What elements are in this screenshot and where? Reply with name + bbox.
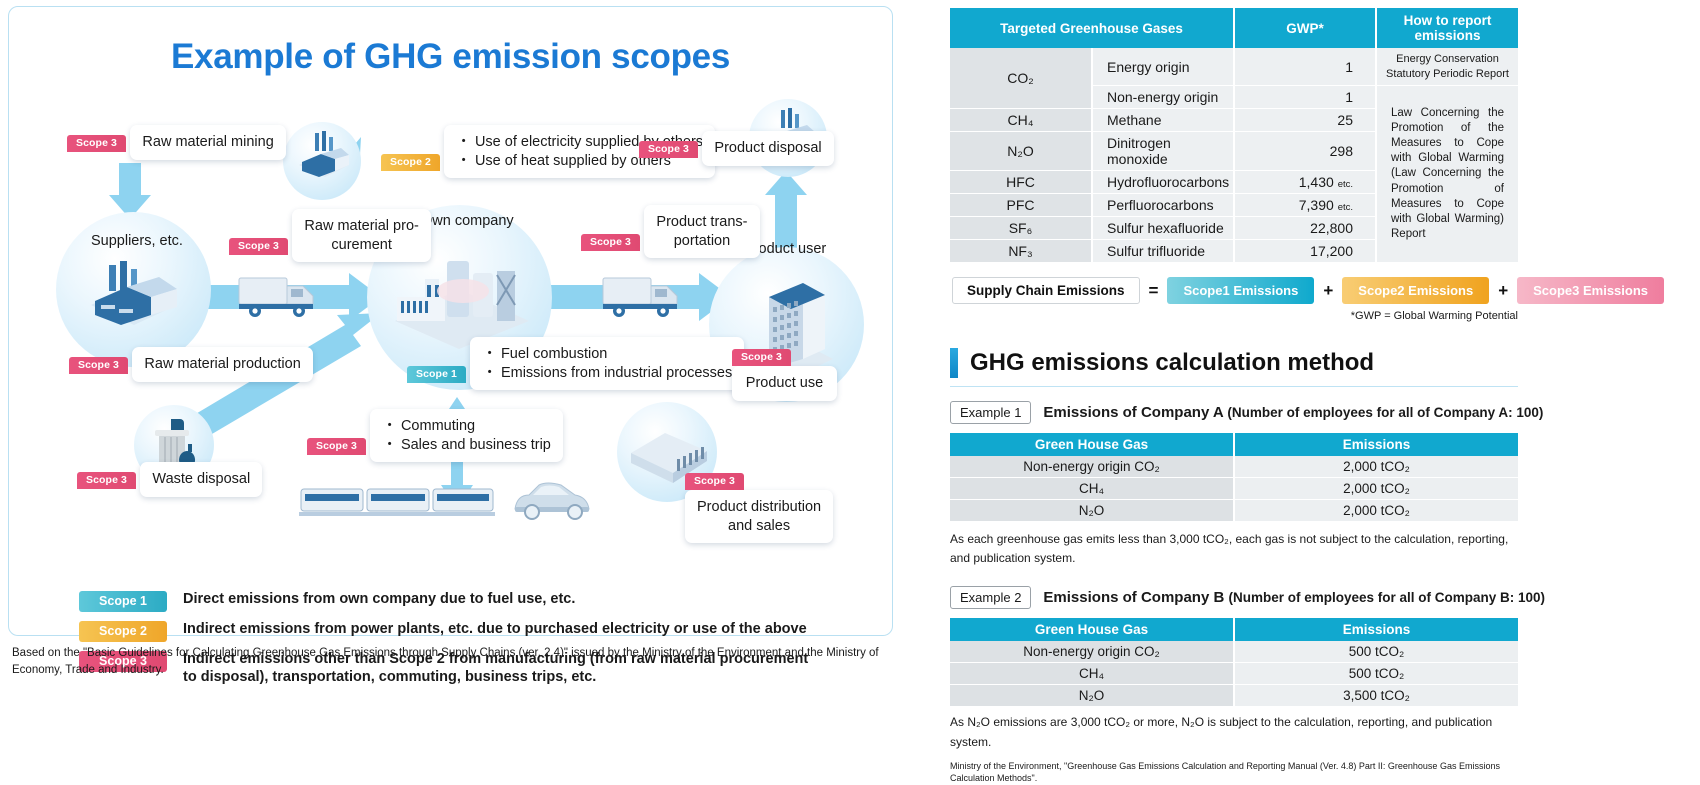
example1-note: As each greenhouse gas emits less than 3…	[950, 530, 1518, 568]
cell-name: Dinitrogen monoxide	[1092, 132, 1234, 171]
node-product-use: Scope 3 Product use	[732, 347, 892, 401]
source-note: Ministry of the Environment, "Greenhouse…	[950, 760, 1518, 785]
scope-tag: Scope 3	[307, 438, 366, 455]
node-waste-disposal: Scope 3 Waste disposal	[77, 462, 262, 497]
cell-gas: N₂O	[950, 500, 1234, 522]
plus-sign-2: +	[1498, 281, 1508, 301]
scope-tag: Scope 3	[229, 238, 288, 255]
scope-tag: Scope 3	[77, 472, 136, 489]
legend-row-scope1: Scope 1 Direct emissions from own compan…	[79, 590, 808, 612]
gwp-value: 1	[1345, 59, 1353, 75]
scope-tag: Scope 3	[581, 234, 640, 251]
gwp-etc: etc.	[1338, 179, 1353, 190]
cell-gwp: 22,800	[1234, 217, 1376, 240]
truck-icon	[601, 272, 693, 320]
table-row: N₂O 3,500 tCO₂	[950, 685, 1518, 707]
factory-icon	[81, 259, 187, 337]
supply-chain-formula: Supply Chain Emissions = Scope1 Emission…	[952, 277, 1690, 304]
example2-header: Example 2 Emissions of Company B (Number…	[950, 586, 1690, 609]
cell-emissions: 2,000 tCO₂	[1234, 456, 1518, 478]
node-label-line2: portation	[656, 232, 747, 251]
cell-gas: NF₃	[950, 240, 1092, 263]
table-header-row: Green House Gas Emissions	[950, 618, 1518, 641]
gwp-value: 22,800	[1310, 220, 1353, 236]
node-label: ・ Commuting ・ Sales and business trip	[370, 409, 562, 462]
equals-sign: =	[1149, 281, 1159, 301]
legend-chip: Scope 2	[79, 621, 167, 642]
gwp-value: 7,390	[1299, 197, 1334, 213]
example1-title-rest: (Number of employees for all of Company …	[1227, 405, 1543, 420]
gwp-value: 1	[1345, 89, 1353, 105]
node-label-line2: curement	[304, 236, 418, 255]
cell-report-block: Law Concerning the Promotion of the Meas…	[1376, 86, 1518, 263]
node-label-line1: ・ Commuting	[382, 417, 550, 436]
circle-label-own-company: Own company	[421, 213, 514, 229]
node-label-line2: ・ Emissions from industrial processes	[482, 364, 732, 383]
train-icon	[299, 485, 499, 523]
cell-emissions: 3,500 tCO₂	[1234, 685, 1518, 707]
section-title: GHG emissions calculation method	[970, 349, 1374, 377]
node-label: Waste disposal	[140, 462, 262, 497]
cell-gwp: 25	[1234, 109, 1376, 132]
col-header-gwp: GWP*	[1234, 8, 1376, 48]
cell-gwp: 298	[1234, 132, 1376, 171]
table-header-row: Targeted Greenhouse Gases GWP* How to re…	[950, 8, 1518, 48]
gwp-footnote: *GWP = Global Warming Potential	[950, 310, 1518, 322]
scope-tag: Scope 3	[685, 473, 744, 490]
legend-row-scope2: Scope 2 Indirect emissions from power pl…	[79, 620, 808, 642]
cell-gas: CO₂	[950, 48, 1092, 109]
node-label-line1: ・ Fuel combustion	[482, 345, 732, 364]
legend-text: Indirect emissions from power plants, et…	[183, 620, 807, 638]
cell-gas: N₂O	[950, 132, 1092, 171]
node-own-company-scope1: Scope 1 ・ Fuel combustion ・ Emissions fr…	[407, 337, 744, 390]
node-product-distribution: Scope 3 Product distribution and sales	[685, 471, 892, 543]
cell-report-first: Energy Conservation Statutory Periodic R…	[1376, 48, 1518, 86]
cell-name: Perfluorocarbons	[1092, 194, 1234, 217]
supply-chain-emissions-label: Supply Chain Emissions	[952, 277, 1140, 304]
example1-title: Emissions of Company A (Number of employ…	[1043, 404, 1543, 421]
table-row: CH₄ 500 tCO₂	[950, 663, 1518, 685]
node-label-line1: Product trans-	[656, 213, 747, 232]
scope3-emissions-pill: Scope3 Emissions	[1517, 277, 1664, 304]
scope1-emissions-pill: Scope1 Emissions	[1167, 277, 1314, 304]
supplier-factory-small-icon	[293, 131, 353, 191]
node-raw-material-mining: Scope 3 Raw material mining	[67, 125, 286, 160]
legend-text: Direct emissions from own company due to…	[183, 590, 575, 608]
node-label: Product distribution and sales	[685, 490, 833, 543]
col-header-emissions: Emissions	[1234, 618, 1518, 641]
example2-badge: Example 2	[950, 586, 1031, 609]
cell-gwp: 7,390 etc.	[1234, 194, 1376, 217]
gwp-etc: etc.	[1338, 202, 1353, 213]
node-raw-material-procurement: Scope 3 Raw material pro- curement	[229, 209, 431, 262]
node-label-line1: Product distribution	[697, 498, 821, 517]
cell-gwp: 17,200	[1234, 240, 1376, 263]
scope-tag: Scope 1	[407, 366, 466, 383]
truck-icon	[237, 272, 329, 320]
cell-name: Methane	[1092, 109, 1234, 132]
cell-gas: CH₄	[950, 478, 1234, 500]
example1-title-bold: Emissions of Company A	[1043, 404, 1223, 421]
node-label: Raw material production	[132, 347, 312, 382]
table-row: Non-energy origin CO₂ 2,000 tCO₂	[950, 456, 1518, 478]
col-header-gases: Targeted Greenhouse Gases	[950, 8, 1234, 48]
car-icon	[509, 479, 595, 523]
table-row: CO₂ Energy origin 1 Energy Conservation …	[950, 48, 1518, 86]
example1-header: Example 1 Emissions of Company A (Number…	[950, 401, 1690, 424]
cell-emissions: 2,000 tCO₂	[1234, 478, 1518, 500]
plus-sign-1: +	[1323, 281, 1333, 301]
cell-gwp: 1	[1234, 86, 1376, 109]
scope-tag: Scope 3	[67, 135, 126, 152]
table-row: N₂O 2,000 tCO₂	[950, 500, 1518, 522]
cell-name: Hydrofluorocarbons	[1092, 171, 1234, 194]
col-header-how: How to report emissions	[1376, 8, 1518, 48]
cell-name: Energy origin	[1092, 48, 1234, 86]
node-commuting: Scope 3 ・ Commuting ・ Sales and business…	[307, 409, 563, 462]
gwp-value: 25	[1337, 112, 1353, 128]
cell-name: Sulfur hexafluoride	[1092, 217, 1234, 240]
example2-title-rest: (Number of employees for all of Company …	[1228, 590, 1545, 605]
cell-gas: CH₄	[950, 663, 1234, 685]
targeted-greenhouse-gases-table: Targeted Greenhouse Gases GWP* How to re…	[950, 8, 1518, 263]
col-header-gas: Green House Gas	[950, 433, 1234, 456]
example2-table: Green House Gas Emissions Non-energy ori…	[950, 618, 1518, 707]
cell-emissions: 2,000 tCO₂	[1234, 500, 1518, 522]
example2-title-bold: Emissions of Company B	[1043, 589, 1224, 606]
table-row: Non-energy origin CO₂ 500 tCO₂	[950, 641, 1518, 663]
col-header-emissions: Emissions	[1234, 433, 1518, 456]
gwp-value: 17,200	[1310, 243, 1353, 259]
scope-tag: Scope 3	[639, 141, 698, 158]
cell-gas: N₂O	[950, 685, 1234, 707]
cell-gas: HFC	[950, 171, 1092, 194]
cell-gwp: 1,430 etc.	[1234, 171, 1376, 194]
col-header-gas: Green House Gas	[950, 618, 1234, 641]
gwp-value: 298	[1330, 143, 1353, 159]
node-label-line1: Raw material pro-	[304, 217, 418, 236]
node-label-line2: and sales	[697, 517, 821, 536]
node-label-line2: ・ Sales and business trip	[382, 436, 550, 455]
circle-label-suppliers: Suppliers, etc.	[91, 233, 183, 249]
scope-legend: Scope 1 Direct emissions from own compan…	[79, 590, 808, 695]
page-root: Example of GHG emission scopes	[0, 0, 1700, 750]
right-panel: Targeted Greenhouse Gases GWP* How to re…	[950, 8, 1690, 785]
cell-name: Sulfur trifluoride	[1092, 240, 1234, 263]
scope-tag: Scope 3	[732, 349, 791, 366]
node-raw-material-production: Scope 3 Raw material production	[69, 347, 313, 382]
section-divider	[950, 386, 1518, 387]
cell-emissions: 500 tCO₂	[1234, 663, 1518, 685]
cell-emissions: 500 tCO₂	[1234, 641, 1518, 663]
section-accent-bar	[950, 348, 958, 378]
node-label: Product disposal	[702, 131, 833, 166]
node-label: ・ Fuel combustion ・ Emissions from indus…	[470, 337, 744, 390]
node-label: Product use	[732, 366, 837, 401]
example2-note: As N₂O emissions are 3,000 tCO₂ or more,…	[950, 713, 1518, 751]
scope-tag: Scope 3	[69, 357, 128, 374]
cell-gwp: 1	[1234, 48, 1376, 86]
legend-chip: Scope 1	[79, 591, 167, 612]
cell-gas: SF₆	[950, 217, 1092, 240]
example1-table: Green House Gas Emissions Non-energy ori…	[950, 433, 1518, 522]
table-header-row: Green House Gas Emissions	[950, 433, 1518, 456]
table-row: CH₄ 2,000 tCO₂	[950, 478, 1518, 500]
node-label: Product trans- portation	[644, 205, 759, 258]
example2-title: Emissions of Company B (Number of employ…	[1043, 589, 1545, 606]
cell-gas: Non-energy origin CO₂	[950, 641, 1234, 663]
node-label: Raw material mining	[130, 125, 285, 160]
diagram-footer-note: Based on the "Basic Guidelines for Calcu…	[12, 645, 892, 678]
ghg-scope-diagram-panel: Example of GHG emission scopes	[8, 6, 893, 636]
scope2-emissions-pill: Scope2 Emissions	[1342, 277, 1489, 304]
calc-method-header: GHG emissions calculation method	[950, 348, 1690, 378]
gwp-value: 1,430	[1299, 174, 1334, 190]
cell-gas: CH₄	[950, 109, 1092, 132]
example1-badge: Example 1	[950, 401, 1031, 424]
node-label: Raw material pro- curement	[292, 209, 430, 262]
cell-name: Non-energy origin	[1092, 86, 1234, 109]
cell-gas: PFC	[950, 194, 1092, 217]
node-product-transportation: Scope 3 Product trans- portation	[581, 205, 760, 258]
cell-gas: Non-energy origin CO₂	[950, 456, 1234, 478]
scope-tag: Scope 2	[381, 154, 440, 171]
